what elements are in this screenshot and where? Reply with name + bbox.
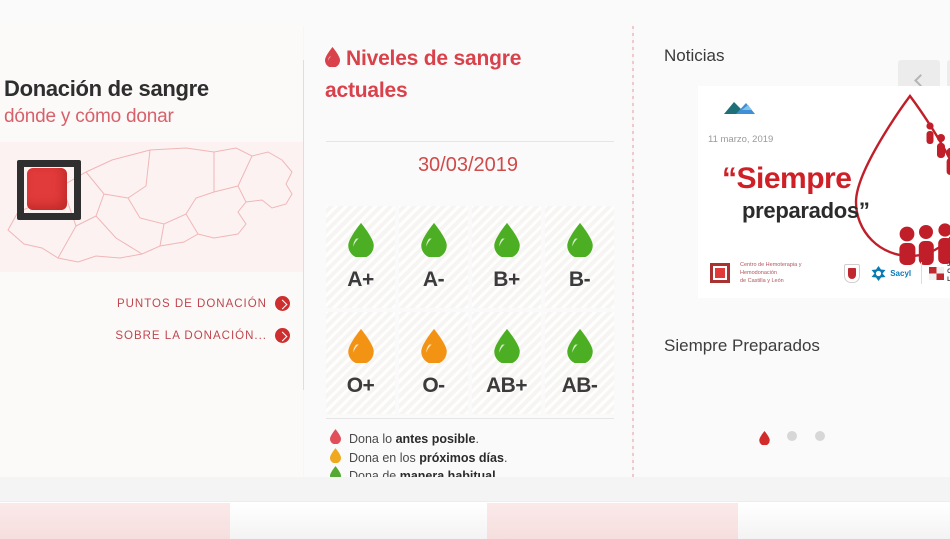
- pagination-dot-active[interactable]: [759, 431, 769, 441]
- blood-drop-icon: [348, 223, 374, 262]
- bottom-tile[interactable]: [230, 503, 487, 539]
- sacyl-logo: Sacyl: [870, 265, 911, 282]
- blood-drop-icon: [494, 223, 520, 262]
- blood-type-label: A-: [423, 268, 444, 292]
- news-card-quote-line1: “Siempre: [722, 162, 851, 196]
- left-links-list: PUNTOS DE DONACIÓN SOBRE LA DONACIÓN...: [0, 296, 290, 360]
- blood-drop-icon: [421, 329, 447, 368]
- bottom-tile[interactable]: [0, 503, 230, 539]
- blood-type-label: B+: [493, 268, 519, 292]
- blood-type-cell[interactable]: AB-: [545, 312, 614, 414]
- hemoterapia-logo-icon: [710, 263, 730, 283]
- legend-text: Dona lo antes posible.: [349, 432, 479, 446]
- blood-type-label: AB-: [562, 374, 598, 398]
- hemoterapia-logo-text: Centro de Hemoterapia y Hemodonación de …: [740, 261, 834, 286]
- blood-type-label: A+: [347, 268, 373, 292]
- arrow-right-icon: [275, 328, 290, 343]
- blood-levels-title-line1: Niveles de sangre: [346, 47, 521, 70]
- blood-donation-panel: Donación de sangre dónde y cómo donar: [0, 26, 303, 477]
- blood-levels-date: 30/03/2019: [304, 154, 632, 177]
- bottom-strip: [0, 477, 950, 539]
- chevron-left-icon: [914, 74, 927, 87]
- junta-flag-icon: [929, 267, 944, 280]
- blood-type-cell[interactable]: O-: [399, 312, 468, 414]
- blood-levels-title: Niveles de sangre actuales: [325, 44, 615, 107]
- blood-types-grid: A+ A- B+: [326, 206, 614, 414]
- blood-drop-icon: [330, 448, 341, 468]
- hemoterapia-logo: [17, 160, 81, 220]
- news-card-quote-line2: preparados”: [742, 198, 870, 224]
- news-headline: Siempre Preparados: [664, 336, 820, 356]
- sacyl-logo-text: Sacyl: [890, 269, 911, 278]
- blood-type-cell[interactable]: B+: [472, 206, 541, 308]
- news-panel-title: Noticias: [664, 46, 724, 66]
- blood-type-cell[interactable]: AB+: [472, 312, 541, 414]
- card-image-badge-icon: [722, 98, 756, 120]
- blood-type-cell[interactable]: A-: [399, 206, 468, 308]
- link-label: PUNTOS DE DONACIÓN: [117, 298, 267, 310]
- blood-drop-icon: [567, 223, 593, 262]
- blood-type-cell[interactable]: A+: [326, 206, 395, 308]
- news-card-date: 11 marzo, 2019: [708, 134, 773, 145]
- blood-levels-title-line2: actuales: [325, 79, 407, 102]
- legend-item: Dona lo antes posible.: [330, 430, 630, 449]
- news-panel: Noticias 11 marzo, 2019: [634, 26, 950, 477]
- page-root: Donación de sangre dónde y cómo donar: [0, 0, 950, 539]
- grid-divider: [326, 418, 614, 419]
- blood-drop-icon: [348, 329, 374, 368]
- blood-drop-people-artwork: [838, 90, 950, 270]
- blood-levels-header: Niveles de sangre actuales: [325, 44, 615, 107]
- news-pagination: [634, 431, 950, 441]
- header-divider: [326, 141, 614, 142]
- blood-type-label: O-: [422, 374, 444, 398]
- blood-levels-panel: Niveles de sangre actuales 30/03/2019 A+: [304, 26, 632, 477]
- news-card[interactable]: 11 marzo, 2019: [698, 86, 950, 298]
- link-sobre-la-donacion[interactable]: SOBRE LA DONACIÓN...: [0, 328, 290, 343]
- legend-item: Dona en los próximos días.: [330, 449, 630, 468]
- page-subtitle: dónde y cómo donar: [4, 106, 174, 128]
- blood-type-cell[interactable]: O+: [326, 312, 395, 414]
- junta-logo: Junta de Castilla y León: [921, 262, 950, 285]
- pagination-dot[interactable]: [787, 431, 797, 441]
- blood-type-label: AB+: [486, 374, 527, 398]
- news-card-logo-bar: Centro de Hemoterapia y Hemodonación de …: [698, 256, 950, 290]
- link-label: SOBRE LA DONACIÓN...: [115, 330, 267, 342]
- blood-type-label: B-: [569, 268, 590, 292]
- blood-drop-icon: [325, 46, 340, 76]
- castilla-y-leon-map: [0, 142, 303, 272]
- blood-type-label: O+: [347, 374, 375, 398]
- link-puntos-de-donacion[interactable]: PUNTOS DE DONACIÓN: [0, 296, 290, 311]
- page-title: Donación de sangre: [4, 76, 209, 102]
- logo-blood-blob: [27, 168, 67, 210]
- bottom-tile[interactable]: [487, 503, 738, 539]
- blood-drop-icon: [330, 429, 341, 449]
- bottom-tile[interactable]: [738, 503, 950, 539]
- sacyl-mark-icon: [870, 265, 887, 282]
- blood-drop-icon: [567, 329, 593, 368]
- top-band: [0, 0, 950, 26]
- legend-text: Dona en los próximos días.: [349, 451, 507, 465]
- blood-type-cell[interactable]: B-: [545, 206, 614, 308]
- pagination-dot[interactable]: [815, 431, 825, 441]
- blood-drop-icon: [421, 223, 447, 262]
- bottom-gap: [0, 477, 950, 502]
- shield-crest-icon: [844, 264, 860, 283]
- blood-drop-icon: [494, 329, 520, 368]
- arrow-right-icon: [275, 296, 290, 311]
